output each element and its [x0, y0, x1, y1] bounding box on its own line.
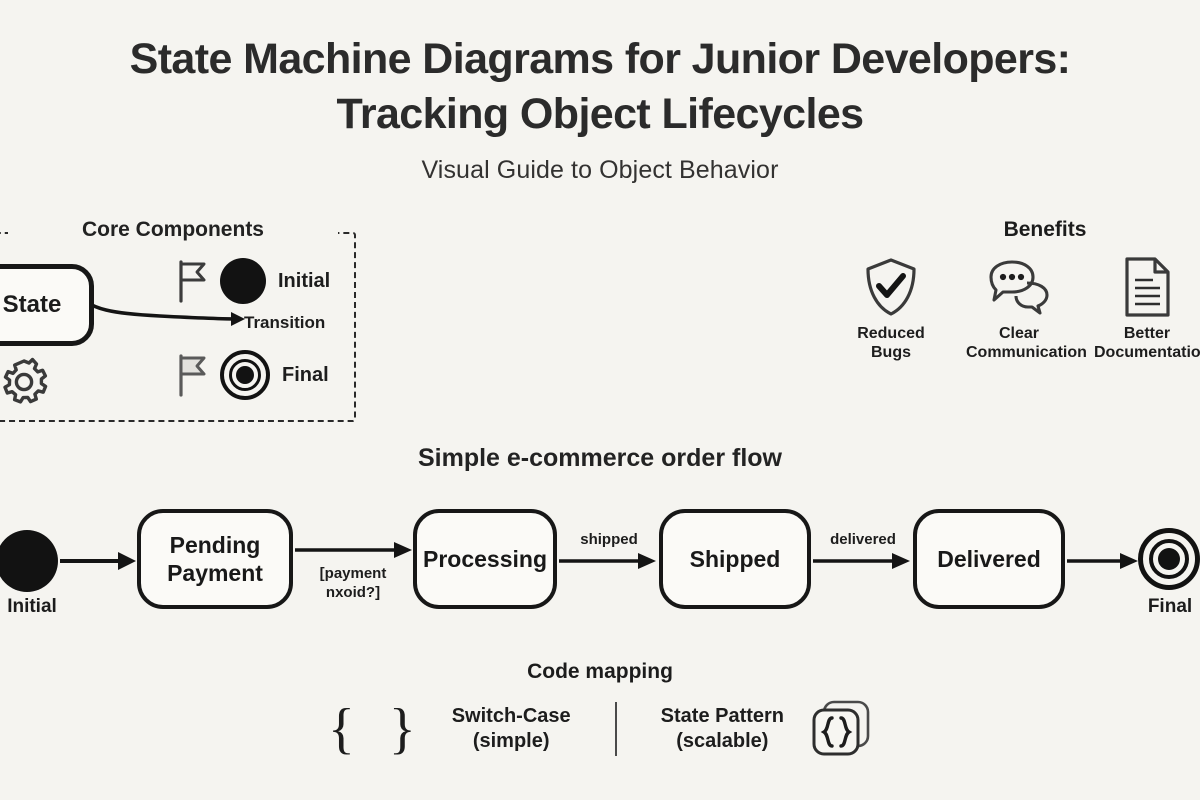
core-final-row: Final — [176, 350, 329, 400]
benefit-label-line1: Clear — [999, 325, 1039, 342]
gear-icon — [0, 355, 50, 407]
flag-icon — [176, 259, 208, 303]
page-title-line1: State Machine Diagrams for Junior Develo… — [130, 35, 1071, 83]
flow-arrow-5 — [1067, 548, 1141, 574]
code-mapping-state-pattern-label: State Pattern (scalable) — [661, 704, 784, 754]
benefit-label: Better Documentation — [1094, 324, 1200, 362]
infographic-canvas: State Machine Diagrams for Junior Develo… — [0, 0, 1200, 800]
core-final-label: Final — [282, 364, 329, 387]
code-label-line2: (scalable) — [676, 730, 768, 752]
flow-title: Simple e-commerce order flow — [0, 444, 1200, 473]
code-mapping-title: Code mapping — [0, 660, 1200, 684]
code-mapping-divider — [615, 702, 617, 756]
flow-arrow-4 — [813, 548, 913, 574]
core-components-title: Core Components — [8, 218, 338, 242]
shield-check-icon — [838, 256, 944, 318]
flow-state-label: Processing — [423, 545, 547, 573]
flow-transition-line1: [payment — [320, 565, 387, 582]
benefit-reduced-bugs: Reduced Bugs — [838, 256, 944, 362]
flow-transition-label-2: shipped — [563, 531, 655, 550]
braces-card-icon — [810, 698, 872, 760]
code-label-line1: State Pattern — [661, 705, 784, 727]
benefit-label-line2: Bugs — [871, 344, 911, 361]
benefit-better-documentation: Better Documentation — [1094, 256, 1200, 362]
flow-state-delivered: Delivered — [913, 509, 1065, 609]
initial-state-dot — [220, 258, 266, 304]
flow-initial-node — [0, 530, 58, 592]
chat-bubbles-icon — [966, 256, 1072, 318]
flow-arrow-3 — [559, 548, 659, 574]
flow-arrow-2 — [295, 537, 415, 563]
core-transition-label: Transition — [244, 313, 325, 333]
flow-state-processing: Processing — [413, 509, 557, 609]
page-subtitle: Visual Guide to Object Behavior — [0, 156, 1200, 185]
page-title: State Machine Diagrams for Junior Develo… — [0, 32, 1200, 142]
benefit-label-line1: Better — [1124, 325, 1170, 342]
braces-glyph-icon: { } — [328, 701, 426, 757]
benefits-row: Reduced Bugs Clear Communication — [838, 256, 1200, 362]
code-label-line2: (simple) — [473, 730, 550, 752]
flow-transition-label-1: [payment nxoid?] — [303, 565, 403, 603]
flow-state-label-line2: Payment — [167, 560, 263, 586]
core-initial-label: Initial — [278, 270, 330, 293]
core-state-label: State — [0, 291, 61, 319]
title-block: State Machine Diagrams for Junior Develo… — [0, 32, 1200, 185]
benefit-label: Clear Communication — [966, 324, 1072, 362]
benefit-label: Reduced Bugs — [838, 324, 944, 362]
flow-state-shipped: Shipped — [659, 509, 811, 609]
benefit-clear-communication: Clear Communication — [966, 256, 1072, 362]
core-initial-row: Initial — [176, 258, 330, 304]
flow-state-label: Delivered — [937, 545, 1041, 573]
flow-state-pending-payment: Pending Payment — [137, 509, 293, 609]
code-label-line1: Switch-Case — [452, 705, 571, 727]
document-icon — [1094, 256, 1200, 318]
benefit-label-line1: Reduced — [857, 325, 925, 342]
flow-arrow-1 — [60, 548, 138, 574]
flow-final-label: Final — [1134, 596, 1200, 618]
code-mapping-row: { } Switch-Case (simple) State Pattern (… — [0, 698, 1200, 760]
flow-final-node — [1138, 528, 1200, 590]
benefit-label-line2: Communication — [966, 344, 1087, 361]
benefit-label-line2: Documentation — [1094, 344, 1200, 361]
code-mapping-switch-case-label: Switch-Case (simple) — [452, 704, 571, 754]
flow-transition-line2: nxoid?] — [326, 584, 380, 601]
flag-icon — [176, 353, 208, 397]
benefits-title: Benefits — [930, 218, 1160, 242]
flow-transition-label-3: delivered — [817, 531, 909, 550]
flow-state-label-line1: Pending — [170, 532, 261, 558]
core-state-node: State — [0, 264, 94, 346]
final-state-ring — [220, 350, 270, 400]
flow-state-label: Shipped — [690, 545, 781, 573]
page-title-line2: Tracking Object Lifecycles — [337, 90, 864, 138]
flow-initial-label: Initial — [0, 596, 68, 618]
